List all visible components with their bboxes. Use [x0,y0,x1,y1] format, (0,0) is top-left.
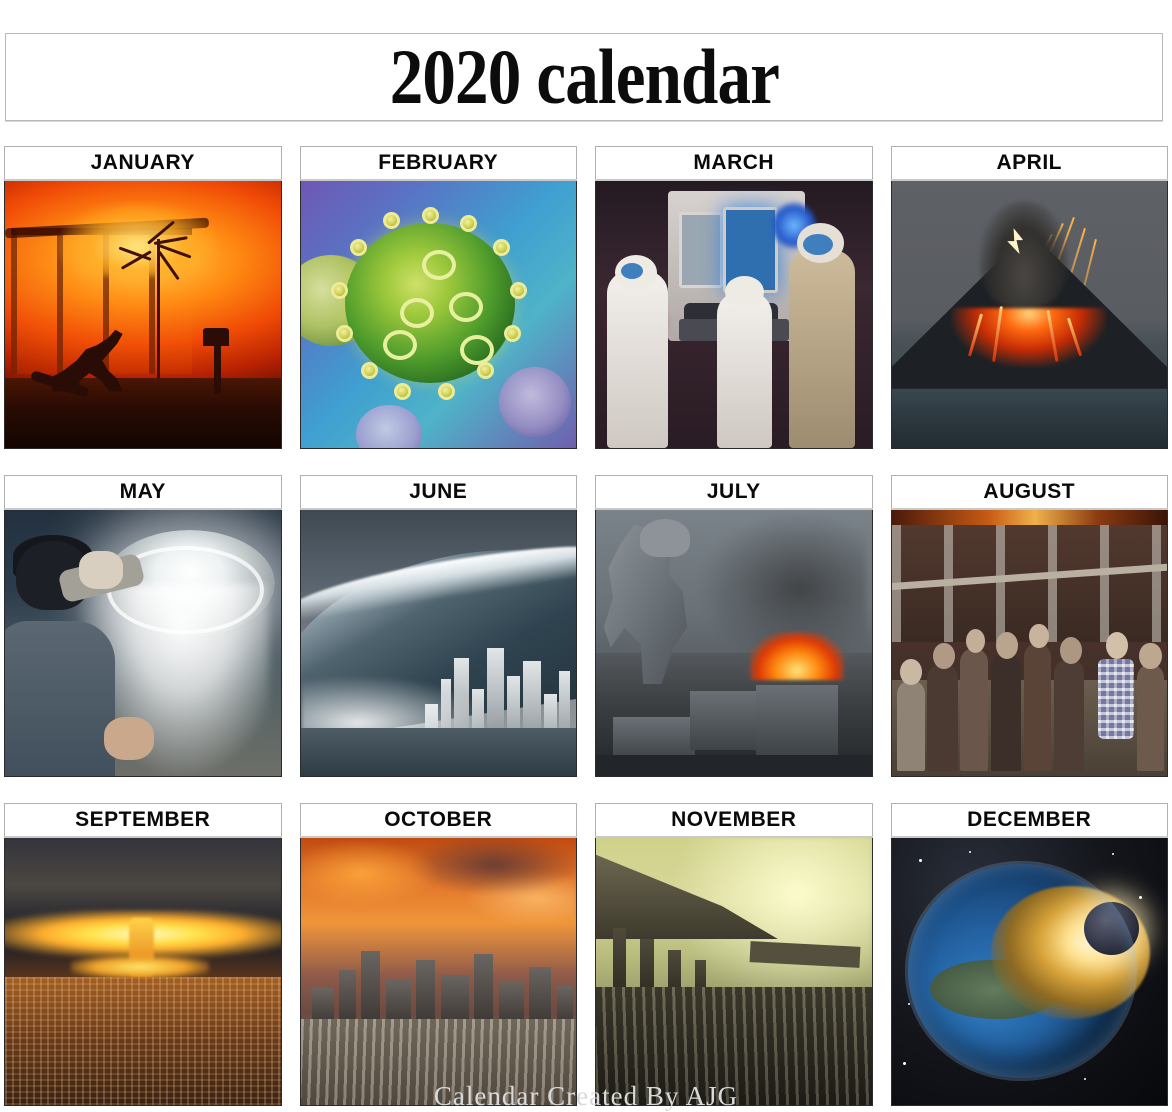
month-label-june: JUNE [300,475,578,508]
month-cell-november[interactable]: NOVEMBER [595,803,873,1106]
month-grid: JANUARY FEBRUARY [0,146,1172,1106]
month-cell-july[interactable]: JULY [595,475,873,778]
kaiju-monster-photo [595,508,873,778]
month-cell-september[interactable]: SEPTEMBER [4,803,282,1106]
volcano-eruption-photo [891,179,1169,449]
month-cell-may[interactable]: MAY [4,475,282,778]
bushfire-kangaroo-photo [4,179,282,449]
tsunami-wave-photo [300,508,578,778]
month-cell-february[interactable]: FEBRUARY [300,146,578,449]
coronavirus-particle-photo [300,179,578,449]
month-label-november: NOVEMBER [595,803,873,836]
collapsed-overpass-photo [595,836,873,1106]
month-cell-october[interactable]: OCTOBER [300,803,578,1106]
month-cell-march[interactable]: MARCH [595,146,873,449]
ufo-encounter-photo [4,508,282,778]
month-cell-june[interactable]: JUNE [300,475,578,778]
month-label-january: JANUARY [4,146,282,179]
burning-city-skyline-photo [300,836,578,1106]
month-label-july: JULY [595,475,873,508]
month-label-march: MARCH [595,146,873,179]
month-cell-april[interactable]: APRIL [891,146,1169,449]
month-cell-december[interactable]: DECEMBER [891,803,1169,1106]
page-title: 2020 calendar [389,38,778,116]
nuclear-explosion-photo [4,836,282,1106]
calendar-title-box: 2020 calendar [5,33,1163,121]
zombie-horde-photo [891,508,1169,778]
month-label-april: APRIL [891,146,1169,179]
month-cell-august[interactable]: AUGUST [891,475,1169,778]
month-label-september: SEPTEMBER [4,803,282,836]
asteroid-impact-earth-photo [891,836,1169,1106]
month-label-october: OCTOBER [300,803,578,836]
month-label-february: FEBRUARY [300,146,578,179]
month-label-december: DECEMBER [891,803,1169,836]
month-label-august: AUGUST [891,475,1169,508]
month-cell-january[interactable]: JANUARY [4,146,282,449]
hazmat-ambulance-photo [595,179,873,449]
month-label-may: MAY [4,475,282,508]
